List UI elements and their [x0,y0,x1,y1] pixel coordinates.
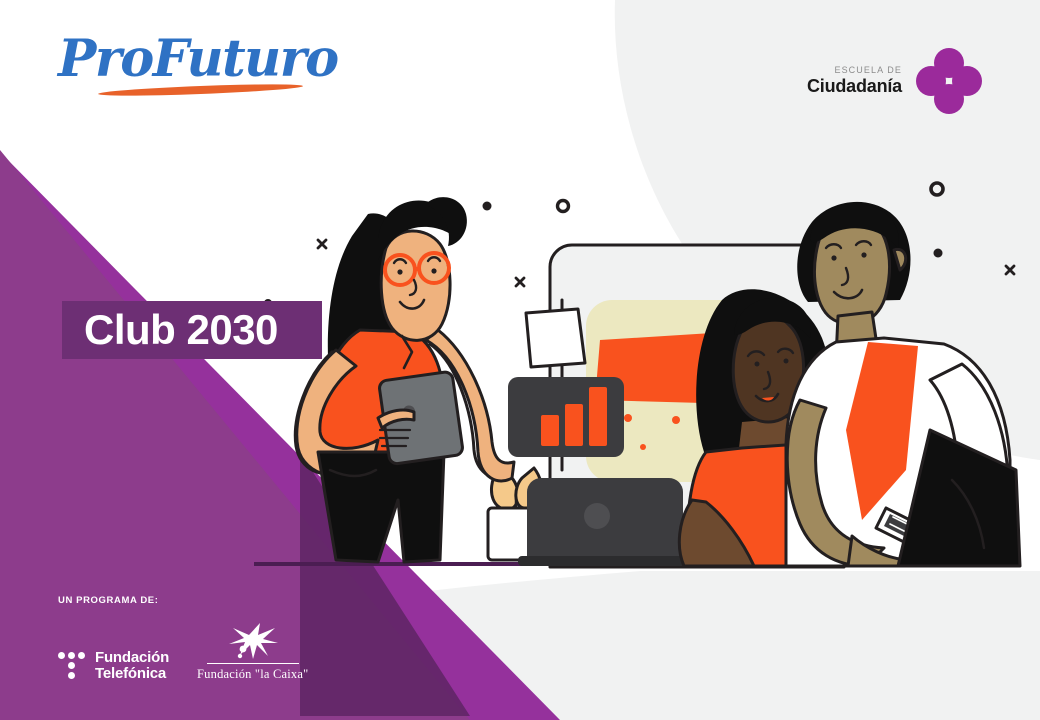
partner-text-block: ESCUELA DE Ciudadanía [807,66,902,96]
fundacion-telefonica-logo[interactable]: Fundación Telefónica [58,650,169,682]
figure-man-standing [786,202,1020,566]
profuturo-logo[interactable]: ProFuturo [58,34,358,114]
telefonica-line-1: Fundación [95,649,169,666]
footer: UN PROGRAMA DE: Fundación Telefónica [58,595,378,683]
partner-kicker: ESCUELA DE [807,66,902,75]
sponsor-logos: Fundación Telefónica Fundación "la Caixa… [58,622,378,683]
laptop [518,478,690,566]
programa-label: UN PROGRAMA DE: [58,595,378,606]
telefonica-dots-icon [58,650,86,682]
la-caixa-rule [207,663,299,665]
monitor-bar-chart [508,377,624,457]
slide-canvas: ProFuturo ESCUELA DE Ciudadanía Club 203… [0,0,1040,720]
page-title: Club 2030 [62,309,278,351]
four-circle-flower-icon [916,48,982,114]
telefonica-wordmark: Fundación Telefónica [95,650,169,682]
la-caixa-wordmark: Fundación "la Caixa" [197,667,308,682]
profuturo-wordmark: ProFuturo [58,34,358,85]
partner-name: Ciudadanía [807,77,902,96]
escuela-de-ciudadania-logo[interactable]: ESCUELA DE Ciudadanía [807,48,982,114]
title-banner: Club 2030 [62,301,322,359]
figure-woman-standing [295,197,514,562]
la-caixa-star-icon [227,622,279,660]
fundacion-la-caixa-logo[interactable]: Fundación "la Caixa" [197,622,308,683]
telefonica-line-2: Telefónica [95,665,166,682]
